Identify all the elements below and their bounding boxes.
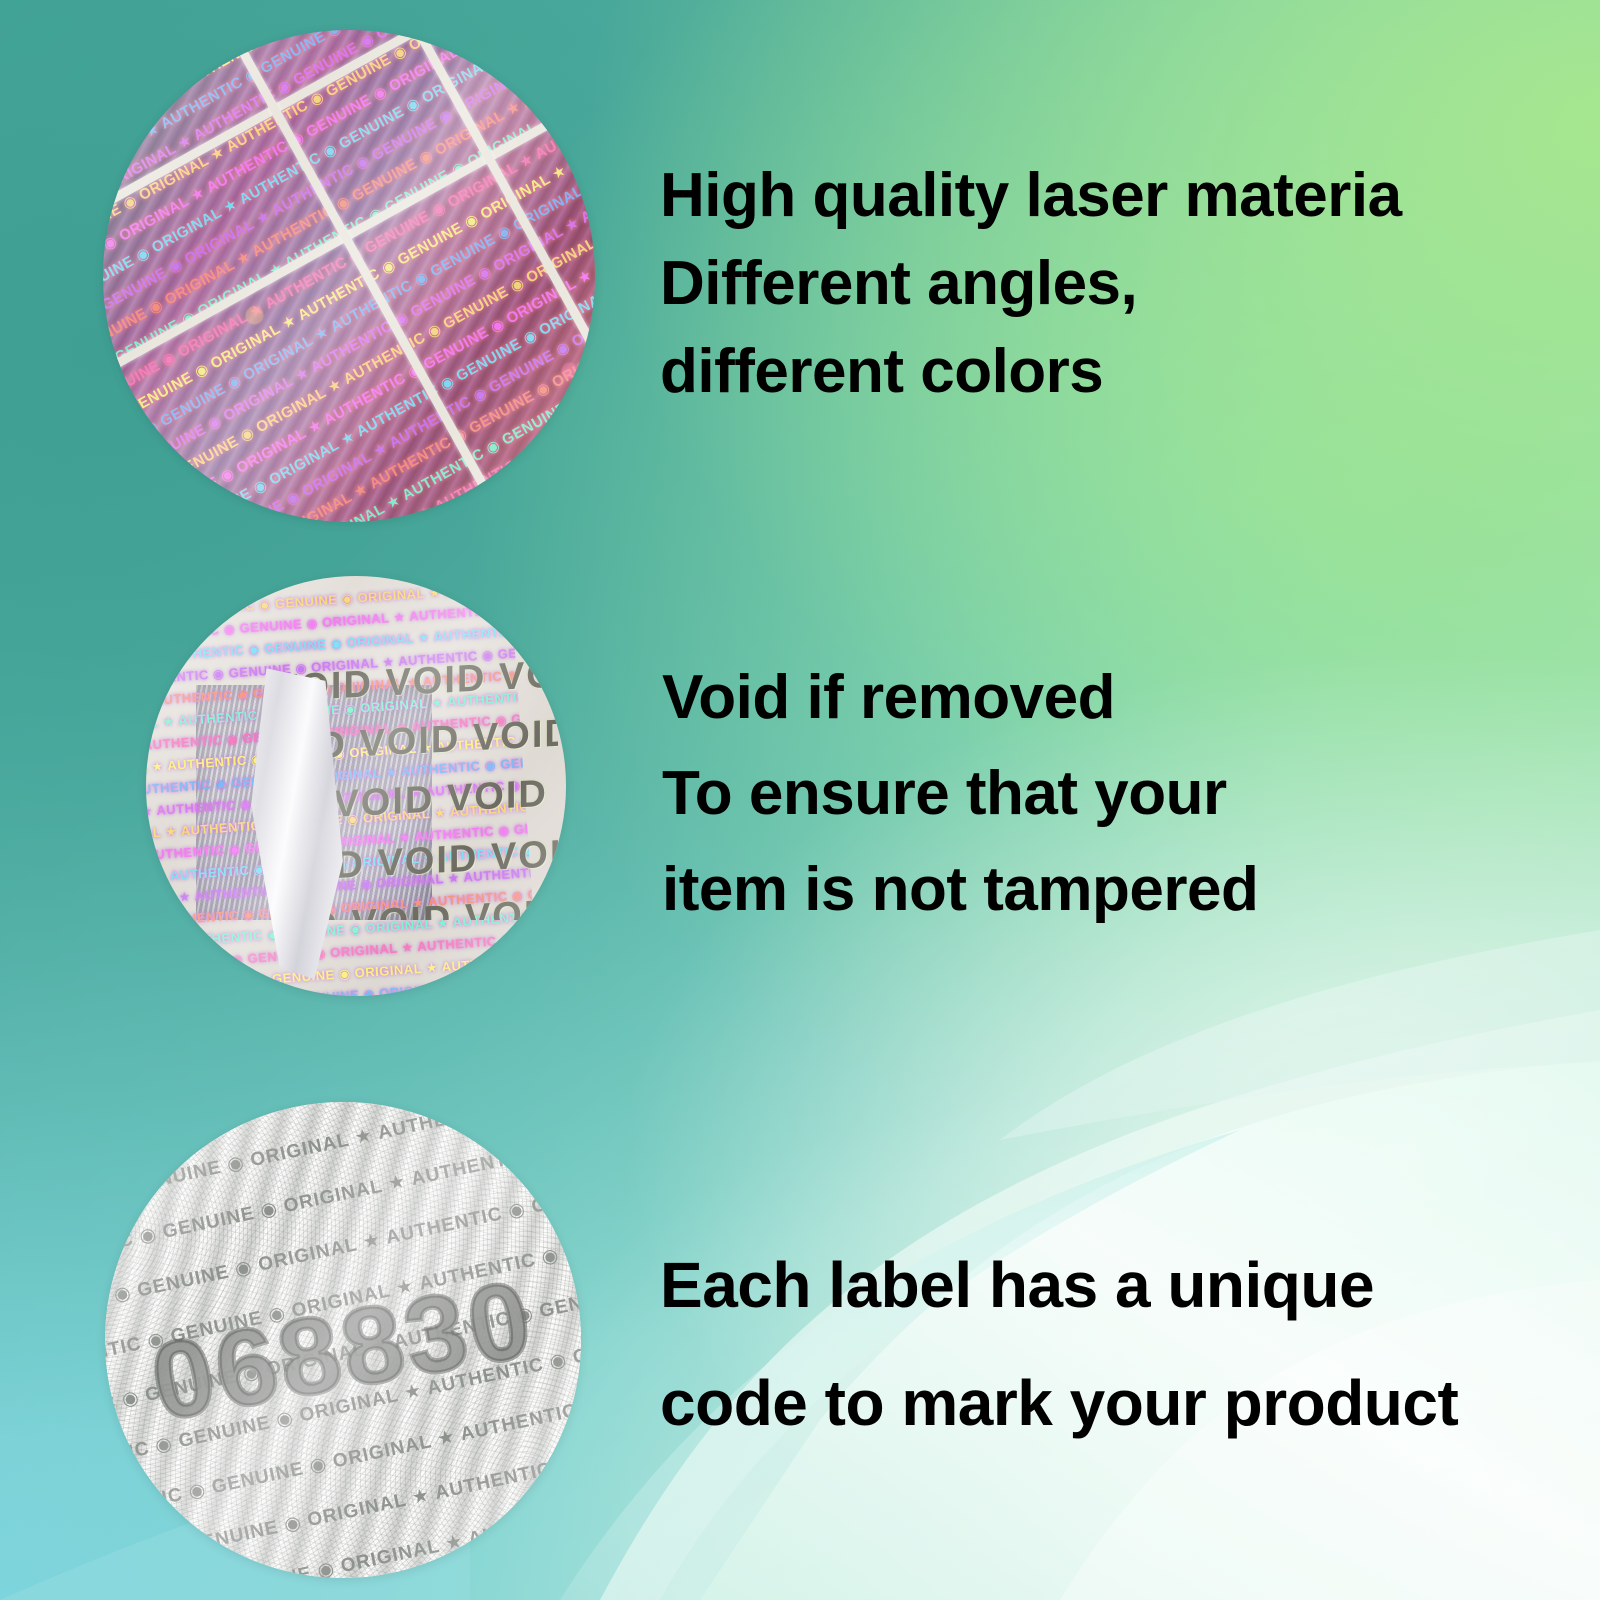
feature-line: Void if removed [662, 650, 1258, 746]
feature-text-void-if-removed: Void if removed To ensure that your item… [662, 650, 1258, 938]
feature-line: Each label has a unique [660, 1226, 1458, 1344]
feature-line: To ensure that your [662, 746, 1258, 842]
feature-line: code to mark your product [660, 1344, 1458, 1462]
feature-text-unique-code: Each label has a unique code to mark you… [660, 1226, 1458, 1462]
hologram-image-laser-material: ORIGINAL ★ AUTHENTIC ◉ GENUINE ◉ ORIGINA… [103, 30, 595, 522]
feature-line: High quality laser materia [660, 152, 1402, 240]
hologram-image-void-if-removed: ORIGINAL ★ AUTHENTIC ◉ GENUINE ◉ ORIGINA… [146, 576, 566, 996]
feature-line: item is not tampered [662, 842, 1258, 938]
hologram-sparkle-highlights [103, 30, 595, 522]
feature-text-laser-material: High quality laser materia Different ang… [660, 152, 1402, 416]
hologram-image-unique-code: ORIGINAL ★ AUTHENTIC ◉ GENUINE ◉ ORIGINA… [105, 1102, 581, 1578]
infographic-page: ORIGINAL ★ AUTHENTIC ◉ GENUINE ◉ ORIGINA… [0, 0, 1600, 1600]
feature-line: Different angles, [660, 240, 1402, 328]
feature-line: different colors [660, 328, 1402, 416]
